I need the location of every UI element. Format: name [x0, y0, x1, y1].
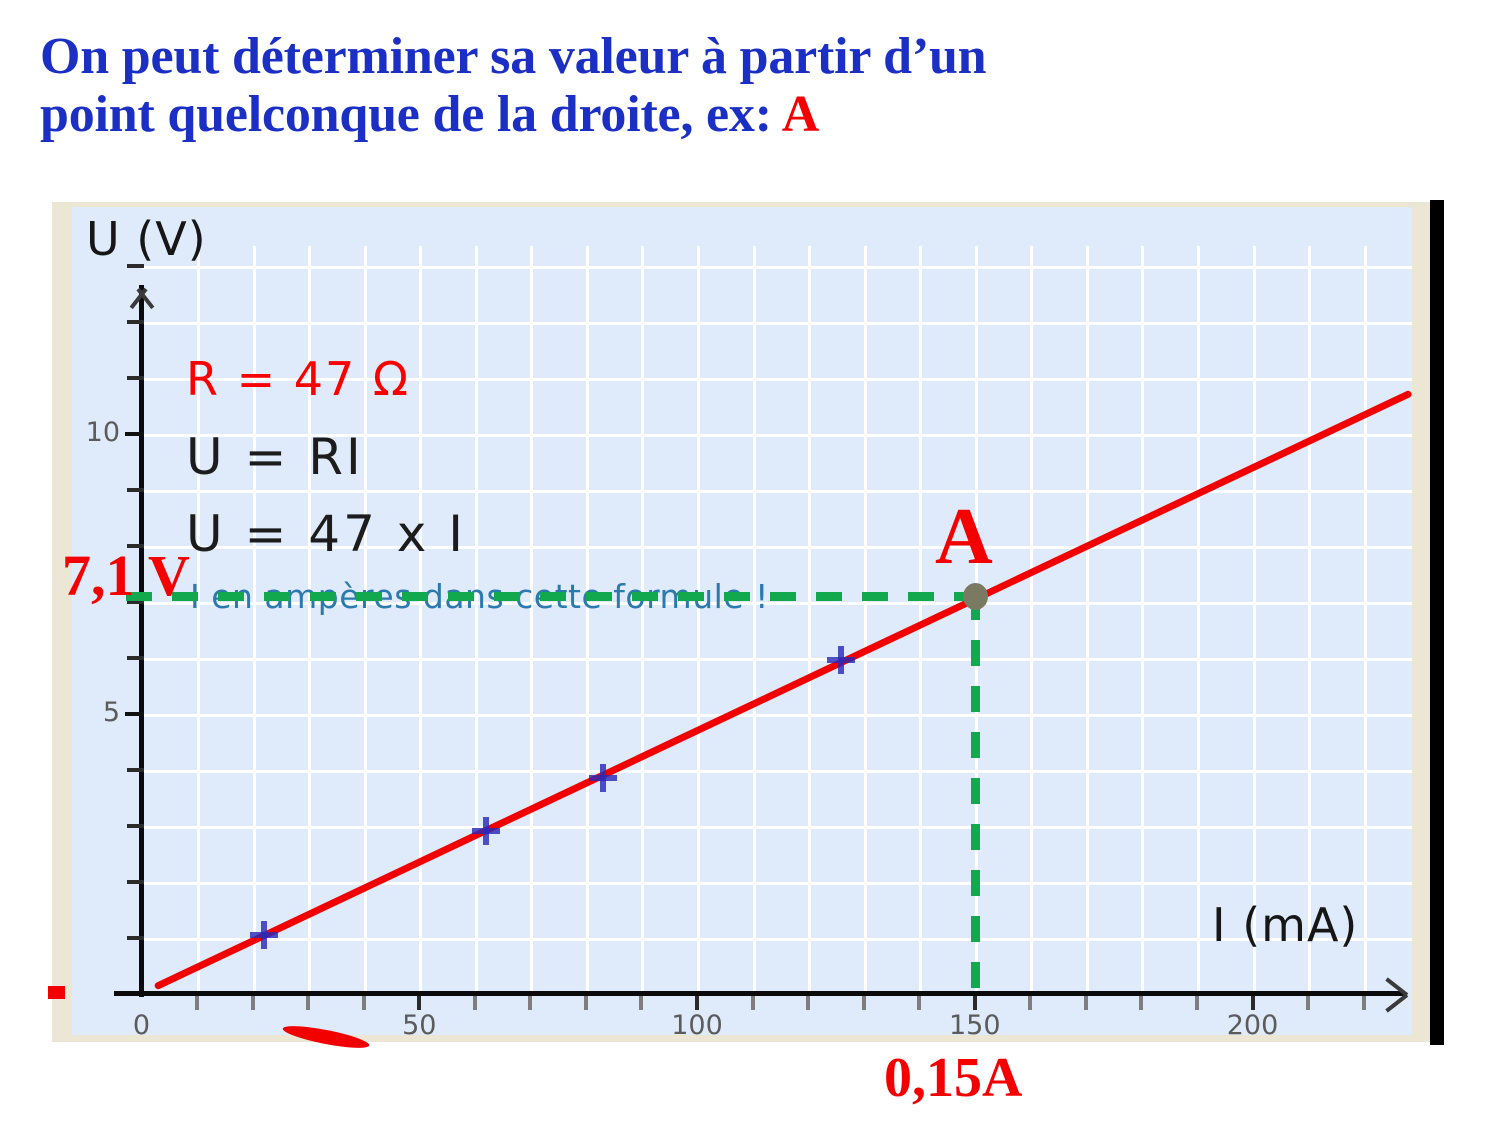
x-axis-tick	[473, 996, 477, 1010]
y-axis-tick	[127, 936, 144, 940]
gridline-vertical	[697, 246, 700, 994]
gridline-vertical	[1141, 246, 1144, 994]
y-axis-tick	[127, 488, 144, 492]
annotation-ohms-law-numeric: U = 47 x I	[186, 505, 466, 563]
x-axis-tick	[639, 996, 643, 1010]
annotation-resistance: R = 47 Ω	[186, 352, 410, 406]
x-axis-tick	[1306, 996, 1310, 1010]
stray-red-mark-left	[48, 986, 65, 999]
x-axis-tick	[917, 996, 921, 1010]
data-point-marker	[589, 764, 617, 792]
y-axis-tick	[127, 656, 144, 660]
title-line-2: point quelconque de la droite, ex: A	[40, 86, 1340, 144]
x-axis-tick	[1251, 996, 1255, 1010]
y-axis-tick	[127, 768, 144, 772]
gridline-vertical	[753, 246, 756, 994]
data-point-marker	[250, 921, 278, 949]
gridline-horizontal	[142, 882, 1413, 885]
x-axis-tick	[1139, 996, 1143, 1010]
x-tick-label: 50	[374, 1010, 464, 1041]
point-a-label: A	[935, 497, 993, 577]
gridline-vertical	[808, 246, 811, 994]
gridline-vertical	[475, 246, 478, 994]
gridline-vertical	[919, 246, 922, 994]
y-axis-tick	[127, 824, 144, 828]
x-axis-tick	[584, 996, 588, 1010]
gridline-horizontal	[142, 826, 1413, 829]
y-tick-label: 5	[60, 697, 120, 728]
y-tick-label: 10	[60, 417, 120, 448]
y-axis-tick	[127, 320, 144, 324]
title-line-2-text: point quelconque de la droite, ex:	[40, 86, 782, 143]
gridline-vertical	[864, 246, 867, 994]
gridline-horizontal	[142, 770, 1413, 773]
gridline-vertical	[1364, 246, 1367, 994]
x-axis-tick	[695, 996, 699, 1010]
x-axis-tick	[528, 996, 532, 1010]
x-axis-tick	[417, 996, 421, 1010]
frame-right-black-bar	[1430, 200, 1444, 1045]
x-axis-tick	[251, 996, 255, 1010]
y-axis-tick	[125, 432, 144, 436]
gridline-vertical	[530, 246, 533, 994]
y-axis-tick	[125, 712, 144, 716]
x-axis-tick	[973, 996, 977, 1010]
guide-vertical-i	[971, 594, 980, 992]
x-axis-tick	[862, 996, 866, 1010]
y-axis-title: U (V)	[86, 212, 207, 266]
data-point-marker	[827, 646, 855, 674]
slide-title: On peut déterminer sa valeur à partir d’…	[40, 28, 1340, 144]
gridline-vertical	[1308, 246, 1311, 994]
y-axis-tick	[127, 880, 144, 884]
gridline-vertical	[1030, 246, 1033, 994]
title-point-label: A	[782, 86, 819, 143]
x-axis-tick	[806, 996, 810, 1010]
x-tick-label: 100	[652, 1010, 742, 1041]
gridline-horizontal	[142, 658, 1413, 661]
x-axis-tick	[362, 996, 366, 1010]
guide-horizontal-u	[126, 592, 981, 601]
x-axis-tick	[1028, 996, 1032, 1010]
x-tick-label: 0	[97, 1010, 187, 1041]
y-axis-tick	[127, 376, 144, 380]
x-axis-tick	[1362, 996, 1366, 1010]
gridline-vertical	[1197, 246, 1200, 994]
x-axis-tick	[751, 996, 755, 1010]
gridline-horizontal	[142, 714, 1413, 717]
gridline-horizontal	[142, 322, 1413, 325]
gridline-vertical	[641, 246, 644, 994]
callout-current-value: 0,15A	[884, 1046, 1022, 1110]
annotation-ohms-law: U = RI	[186, 428, 364, 486]
x-axis-tick	[1195, 996, 1199, 1010]
callout-voltage-value: 7,1 V	[62, 542, 190, 609]
y-axis-line	[139, 285, 144, 997]
title-line-1: On peut déterminer sa valeur à partir d’…	[40, 28, 1340, 86]
x-axis-title: I (mA)	[1212, 898, 1358, 952]
gridline-horizontal	[142, 266, 1413, 269]
x-axis-tick	[1084, 996, 1088, 1010]
x-axis-tick	[195, 996, 199, 1010]
gridline-vertical	[1086, 246, 1089, 994]
gridline-vertical	[586, 246, 589, 994]
plot-area	[72, 207, 1412, 1035]
gridline-vertical	[419, 246, 422, 994]
data-point-marker	[472, 817, 500, 845]
gridline-vertical	[1253, 246, 1256, 994]
x-tick-label: 200	[1208, 1010, 1298, 1041]
x-tick-label: 150	[930, 1010, 1020, 1041]
x-axis-tick	[306, 996, 310, 1010]
gridline-horizontal	[142, 490, 1413, 493]
point-a-marker	[963, 583, 988, 610]
